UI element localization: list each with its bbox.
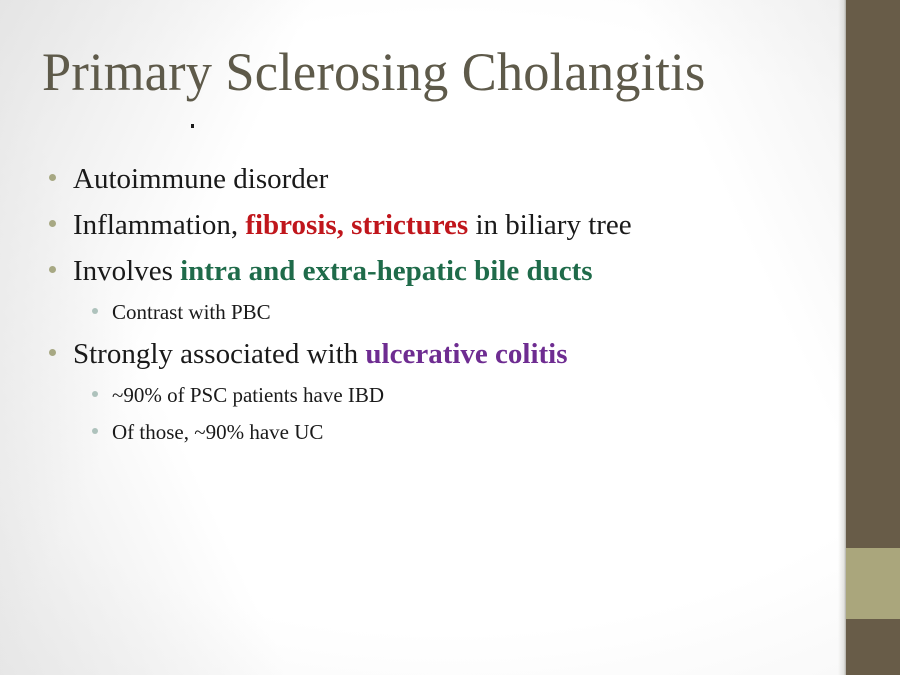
sidebar-band-top [846,0,900,548]
bullet-item-level2: ~90% of PSC patients have IBD [88,377,784,414]
plain-text-run: Strongly associated with [73,338,365,370]
bullet-marker-icon [49,349,56,356]
bullet-item-level1: Autoimmune disorder [44,156,784,202]
bullet-marker-icon [49,266,56,273]
plain-text-run: Contrast with PBC [112,300,271,324]
plain-text-run: Of those, ~90% have UC [112,420,323,444]
emphasis-text-run: fibrosis, strictures [245,209,468,241]
sidebar-band-bottom [846,619,900,675]
bullet-marker-icon [49,174,56,181]
bullet-marker-icon [49,220,56,227]
bullet-item-level2: Contrast with PBC [88,294,784,331]
bullet-marker-icon [92,308,98,314]
slide-sidebar-decoration [846,0,900,675]
plain-text-run: ~90% of PSC patients have IBD [112,383,384,407]
presentation-slide: Primary Sclerosing Cholangitis Autoimmun… [0,0,900,675]
bullet-text: Strongly associated with ulcerative coli… [73,331,568,377]
emphasis-text-run: ulcerative colitis [365,338,567,370]
bullet-item-level1: Strongly associated with ulcerative coli… [44,331,784,377]
bullet-text: Involves intra and extra-hepatic bile du… [73,248,593,294]
plain-text-run: in biliary tree [468,209,631,241]
bullet-text: Inflammation, fibrosis, strictures in bi… [73,202,632,248]
bullet-item-level2: Of those, ~90% have UC [88,414,784,451]
bullet-marker-icon [92,428,98,434]
plain-text-run: Autoimmune disorder [73,163,328,195]
sidebar-edge-shadow [838,0,846,675]
slide-title: Primary Sclerosing Cholangitis [42,44,705,101]
bullet-text: Autoimmune disorder [73,156,328,202]
bullet-text: ~90% of PSC patients have IBD [112,377,384,414]
plain-text-run: Inflammation, [73,209,245,241]
stray-punctuation-mark [191,124,194,128]
bullet-item-level1: Involves intra and extra-hepatic bile du… [44,248,784,294]
slide-body-bullet-list: Autoimmune disorderInflammation, fibrosi… [44,156,784,451]
bullet-text: Contrast with PBC [112,294,271,331]
bullet-marker-icon [92,391,98,397]
bullet-item-level1: Inflammation, fibrosis, strictures in bi… [44,202,784,248]
sidebar-band-middle [846,548,900,619]
plain-text-run: Involves [73,255,180,287]
bullet-text: Of those, ~90% have UC [112,414,323,451]
emphasis-text-run: intra and extra-hepatic bile ducts [180,255,592,287]
